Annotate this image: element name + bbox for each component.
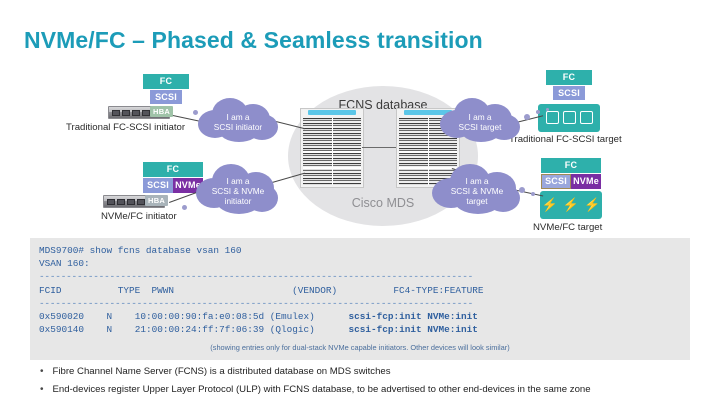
- protocol-box-scsi-initiator-bottom: SCSI: [143, 178, 173, 193]
- cli-cell-type: N: [107, 324, 113, 335]
- cli-cell-fcid: 0x590020: [39, 311, 84, 322]
- label-nvme-fc-initiator: NVMe/FC initiator: [101, 211, 177, 222]
- chassis-band: [303, 167, 361, 169]
- cli-rule-middle: ----------------------------------------…: [30, 297, 690, 310]
- traffic-dot: [524, 114, 530, 120]
- traffic-dot: [546, 108, 549, 111]
- cloud-scsi-nvme-target: I am aSCSI & NVMetarget: [432, 162, 522, 214]
- bullet-text: Fibre Channel Name Server (FCNS) is a di…: [53, 366, 391, 378]
- bullet-list: • Fibre Channel Name Server (FCNS) is a …: [40, 366, 706, 402]
- hba-tag-traditional-initiator: HBA: [150, 106, 173, 117]
- bullet-text: End-devices register Upper Layer Protoco…: [53, 384, 591, 396]
- cli-footnote: (showing entries only for dual-stack NVM…: [30, 336, 690, 354]
- slide: NVMe/FC – Phased & Seamless transition F…: [0, 0, 720, 405]
- mds-director-chassis-left: [300, 108, 364, 188]
- cloud-text: I am aSCSI target: [438, 96, 522, 132]
- bullet-dot-icon: •: [40, 366, 44, 378]
- cli-cell-type: N: [107, 311, 113, 322]
- label-traditional-fc-scsi-target: Traditional FC-SCSI target: [509, 134, 622, 145]
- cloud-scsi-initiator: I am aSCSI initiator: [196, 96, 280, 142]
- cloud-text: I am aSCSI initiator: [196, 96, 280, 132]
- cloud-scsi-target: I am aSCSI target: [438, 96, 522, 142]
- cloud-text: I am aSCSI & NVMeinitiator: [196, 162, 280, 206]
- page-title: NVMe/FC – Phased & Seamless transition: [24, 27, 483, 54]
- cli-cell-fcid: 0x590140: [39, 324, 84, 335]
- protocol-box-fc-target-top: FC: [546, 70, 592, 85]
- protocol-box-fc-initiator-top: FC: [143, 74, 189, 89]
- protocol-box-scsi-initiator-top: SCSI: [150, 90, 182, 104]
- protocol-box-fc-initiator-bottom: FC: [143, 162, 203, 177]
- label-traditional-fc-scsi-initiator: Traditional FC-SCSI initiator: [66, 122, 185, 133]
- chassis-top-cap: [308, 110, 356, 115]
- array-disk-slots: [538, 111, 600, 124]
- cloud-text: I am aSCSI & NVMetarget: [432, 162, 522, 206]
- chassis-band: [399, 151, 457, 153]
- cli-rule-top: ----------------------------------------…: [30, 270, 690, 283]
- protocol-box-scsi-target-bottom: SCSI: [541, 174, 571, 189]
- cli-cell-pwwn: 21:00:00:24:ff:7f:06:39: [135, 324, 264, 335]
- inter-switch-link: [362, 147, 396, 148]
- bullet-dot-icon: •: [40, 384, 44, 396]
- architecture-diagram: FCNS database Cisco MDS FC SCSI HBA Trad…: [0, 62, 720, 234]
- cli-cell-vendor: (Qlogic): [270, 324, 315, 335]
- cloud-scsi-nvme-initiator: I am aSCSI & NVMeinitiator: [196, 162, 280, 214]
- protocol-box-nvme-target-bottom: NVMe: [571, 174, 601, 189]
- traffic-dot: [531, 192, 535, 196]
- chassis-band: [303, 151, 361, 153]
- protocol-box-fc-target-bottom: FC: [541, 158, 601, 173]
- lightning-bolt-icon: ⚡⚡⚡: [540, 198, 602, 211]
- cli-cell-pwwn: 10:00:00:90:fa:e0:08:5d: [135, 311, 264, 322]
- cli-row: 0x590140 N 21:00:00:24:ff:7f:06:39 (Qlog…: [30, 323, 690, 336]
- cli-vsan-line: VSAN 160:: [30, 257, 690, 270]
- cli-cell-fc4type: scsi-fcp:init NVMe:init: [349, 311, 478, 322]
- flash-array-icon-nvme-target: ⚡⚡⚡: [540, 191, 602, 219]
- protocol-box-scsi-target-top: SCSI: [553, 86, 585, 100]
- label-nvme-fc-target: NVMe/FC target: [533, 222, 602, 233]
- cli-cell-fc4type: scsi-fcp:init NVMe:init: [349, 324, 478, 335]
- server-drive-bays: [107, 199, 145, 205]
- traffic-dot: [182, 205, 187, 210]
- cli-row: 0x590020 N 10:00:00:90:fa:e0:08:5d (Emul…: [30, 310, 690, 323]
- list-item: • Fibre Channel Name Server (FCNS) is a …: [40, 366, 706, 378]
- list-item: • End-devices register Upper Layer Proto…: [40, 384, 706, 396]
- hba-tag-nvme-initiator: HBA: [145, 195, 168, 206]
- cli-output-block: MDS9700# show fcns database vsan 160 VSA…: [30, 238, 690, 360]
- cli-cell-vendor: (Emulex): [270, 311, 315, 322]
- server-drive-bays: [112, 110, 150, 116]
- cli-prompt-line: MDS9700# show fcns database vsan 160: [30, 244, 690, 257]
- cli-column-header: FCID TYPE PWWN (VENDOR) FC4-TYPE:FEATURE: [30, 284, 690, 297]
- cisco-mds-label: Cisco MDS: [318, 196, 448, 210]
- traffic-dot: [536, 110, 540, 114]
